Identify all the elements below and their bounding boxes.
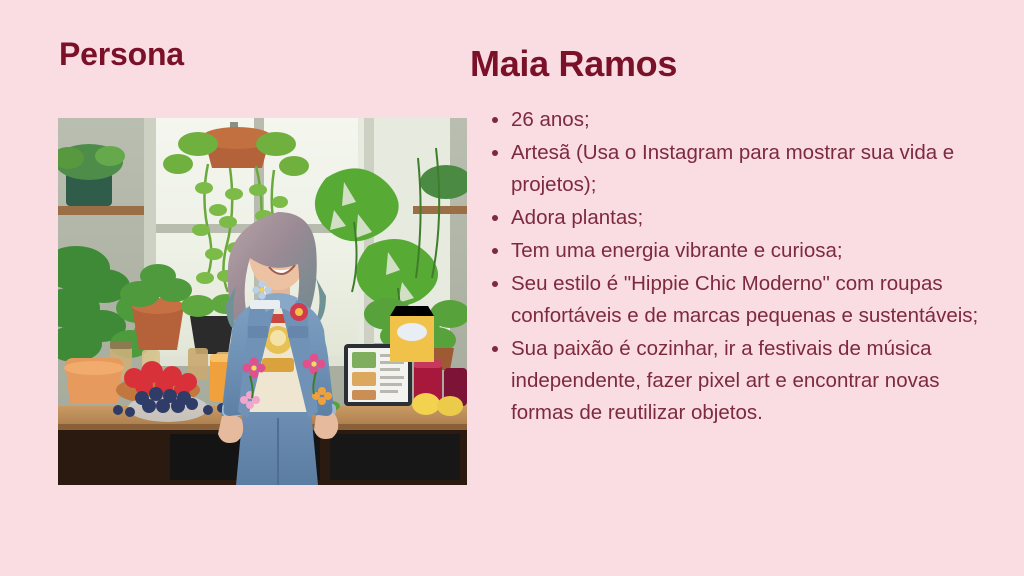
list-item: Adora plantas;	[489, 202, 979, 234]
list-item: Seu estilo é "Hippie Chic Moderno" com r…	[489, 268, 979, 332]
persona-photo-illustration	[58, 118, 467, 485]
list-item: Sua paixão é cozinhar, ir a festivais de…	[489, 333, 979, 429]
list-item: Tem uma energia vibrante e curiosa;	[489, 235, 979, 267]
page-title: Maia Ramos	[470, 42, 677, 85]
section-label: Persona	[59, 35, 184, 73]
list-item: 26 anos;	[489, 104, 979, 136]
persona-photo	[58, 118, 467, 485]
persona-traits-list: 26 anos; Artesã (Usa o Instagram para mo…	[489, 104, 979, 430]
list-item: Artesã (Usa o Instagram para mostrar sua…	[489, 137, 979, 201]
persona-slide: Persona	[0, 0, 1024, 576]
